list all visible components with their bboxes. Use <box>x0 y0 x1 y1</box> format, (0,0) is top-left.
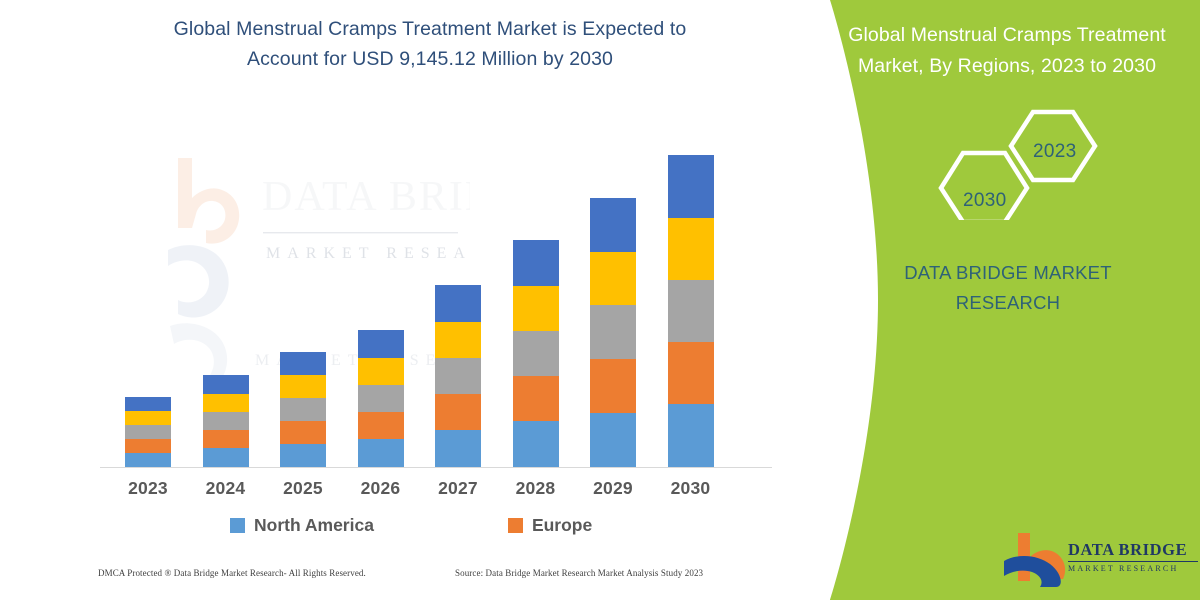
bar-segment-2024-north-america <box>203 448 249 467</box>
bar-segment-2026-series-3 <box>358 385 404 412</box>
stacked-bar-chart <box>100 140 760 470</box>
hex-badge-label-2023: 2023 <box>1033 141 1076 163</box>
legend-label-north-america: North America <box>254 515 374 536</box>
bar-segment-2024-europe <box>203 430 249 448</box>
bar-segment-2025-europe <box>280 421 326 444</box>
logo-wordmark: DATA BRIDGE MARKET RESEARCH <box>1068 540 1198 573</box>
footer-source: Source: Data Bridge Market Research Mark… <box>455 568 703 578</box>
bar-segment-2023-north-america <box>125 453 171 467</box>
bar-segment-2030-series-4 <box>668 218 714 280</box>
bar-segment-2024-series-4 <box>203 394 249 412</box>
chart-legend: North America Europe <box>230 512 592 538</box>
hex-badge-group: 2030 2023 <box>925 108 1110 220</box>
bar-segment-2025-series-3 <box>280 398 326 421</box>
bar-segment-2028-series-3 <box>513 331 559 376</box>
x-axis-label-2027: 2027 <box>418 478 498 499</box>
bar-2030[interactable] <box>668 155 714 467</box>
bar-2025[interactable] <box>280 352 326 467</box>
bar-segment-2023-series-4 <box>125 411 171 425</box>
bar-segment-2023-series-3 <box>125 425 171 439</box>
legend-swatch-north-america <box>230 518 245 533</box>
bar-segment-2024-series-5 <box>203 375 249 394</box>
bar-segment-2024-series-3 <box>203 412 249 430</box>
bar-segment-2027-series-3 <box>435 358 481 394</box>
footer-copyright: DMCA Protected ® Data Bridge Market Rese… <box>98 568 366 578</box>
bar-2027[interactable] <box>435 285 481 467</box>
bar-segment-2027-series-4 <box>435 322 481 358</box>
x-axis-label-2023: 2023 <box>108 478 188 499</box>
bar-segment-2029-series-4 <box>590 252 636 305</box>
bar-segment-2030-series-3 <box>668 280 714 342</box>
bar-segment-2025-series-4 <box>280 375 326 398</box>
chart-plot-area <box>100 140 760 467</box>
bar-2029[interactable] <box>590 198 636 467</box>
bar-segment-2029-series-5 <box>590 198 636 252</box>
logo-subtitle: MARKET RESEARCH <box>1068 564 1198 573</box>
bar-segment-2023-series-5 <box>125 397 171 411</box>
legend-item-north-america[interactable]: North America <box>230 515 374 536</box>
bar-2023[interactable] <box>125 397 171 467</box>
x-axis-label-2024: 2024 <box>186 478 266 499</box>
bar-segment-2027-series-5 <box>435 285 481 322</box>
bar-segment-2028-series-5 <box>513 240 559 286</box>
x-axis-label-2029: 2029 <box>573 478 653 499</box>
x-axis-label-2028: 2028 <box>496 478 576 499</box>
panel-brand-text: DATA BRIDGE MARKET RESEARCH <box>880 258 1136 318</box>
bar-segment-2026-europe <box>358 412 404 439</box>
bar-2024[interactable] <box>203 375 249 467</box>
legend-label-europe: Europe <box>532 515 592 536</box>
bar-segment-2028-north-america <box>513 421 559 467</box>
bar-segment-2023-europe <box>125 439 171 453</box>
infographic-canvas: DATA BRIDGE MARKET RESEARCH MARKET RESEA… <box>0 0 1200 600</box>
bar-segment-2029-europe <box>590 359 636 413</box>
bar-segment-2026-north-america <box>358 439 404 467</box>
bar-segment-2027-europe <box>435 394 481 430</box>
x-axis-label-2025: 2025 <box>263 478 343 499</box>
bar-segment-2029-north-america <box>590 413 636 467</box>
logo-title: DATA BRIDGE <box>1068 540 1198 560</box>
x-axis-line <box>100 467 772 468</box>
page-title: Global Menstrual Cramps Treatment Market… <box>140 14 720 74</box>
bar-segment-2028-series-4 <box>513 286 559 331</box>
bar-segment-2028-europe <box>513 376 559 421</box>
legend-swatch-europe <box>508 518 523 533</box>
hex-badge-label-2030: 2030 <box>963 190 1006 212</box>
bar-2026[interactable] <box>358 330 404 467</box>
bar-segment-2030-series-5 <box>668 155 714 218</box>
panel-title: Global Menstrual Cramps Treatment Market… <box>828 20 1186 82</box>
x-axis-label-2026: 2026 <box>341 478 421 499</box>
legend-item-europe[interactable]: Europe <box>508 515 592 536</box>
logo-divider <box>1068 561 1198 562</box>
bar-segment-2029-series-3 <box>590 305 636 359</box>
bar-segment-2026-series-5 <box>358 330 404 358</box>
bar-2028[interactable] <box>513 240 559 467</box>
bar-segment-2025-series-5 <box>280 352 326 375</box>
x-axis-label-2030: 2030 <box>651 478 731 499</box>
bar-segment-2030-north-america <box>668 404 714 467</box>
bar-segment-2026-series-4 <box>358 358 404 385</box>
bar-segment-2030-europe <box>668 342 714 404</box>
bar-segment-2027-north-america <box>435 430 481 467</box>
bar-segment-2025-north-america <box>280 444 326 467</box>
